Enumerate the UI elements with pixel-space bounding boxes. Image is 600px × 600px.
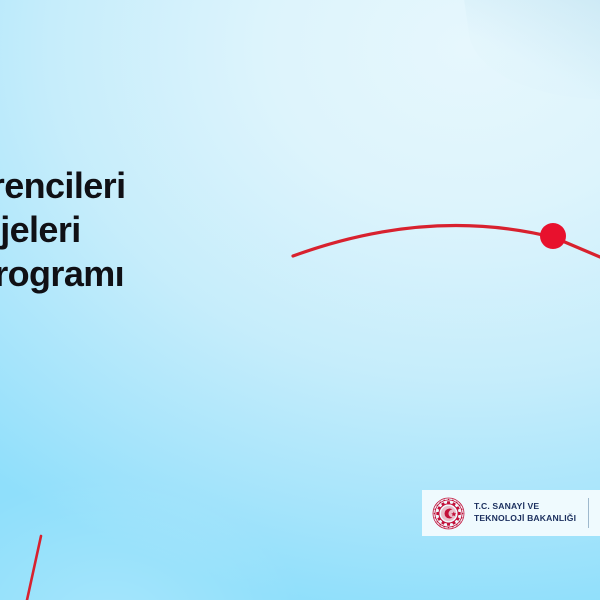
logo-divider	[588, 498, 589, 528]
corner-wedge-decoration	[460, 0, 600, 122]
headline-line-1: Öğrencileri	[0, 164, 362, 208]
tc-sanayi-teknoloji-bakanligi-emblem	[432, 497, 465, 530]
page-title: Öğrencileri Projeleri e Programı	[0, 164, 362, 296]
ministry-logo-text: T.C. SANAYİ VE TEKNOLOJİ BAKANLIĞI	[474, 501, 576, 524]
background-bloom	[0, 410, 390, 600]
headline-line-3: e Programı	[0, 252, 362, 296]
slide-canvas: Öğrencileri Projeleri e Programı YISI	[0, 0, 600, 600]
red-bottom-left-line	[27, 536, 41, 600]
ministry-text-line-1: T.C. SANAYİ VE	[474, 501, 576, 513]
red-arc-tail	[560, 240, 600, 257]
ministry-text-line-2: TEKNOLOJİ BAKANLIĞI	[474, 513, 576, 525]
red-node-dot	[540, 223, 566, 249]
ministry-logo: T.C. SANAYİ VE TEKNOLOJİ BAKANLIĞI	[432, 497, 576, 530]
headline-line-2: Projeleri	[0, 208, 362, 252]
logo-bar: T.C. SANAYİ VE TEKNOLOJİ BAKANLIĞI # TEK…	[422, 490, 600, 536]
